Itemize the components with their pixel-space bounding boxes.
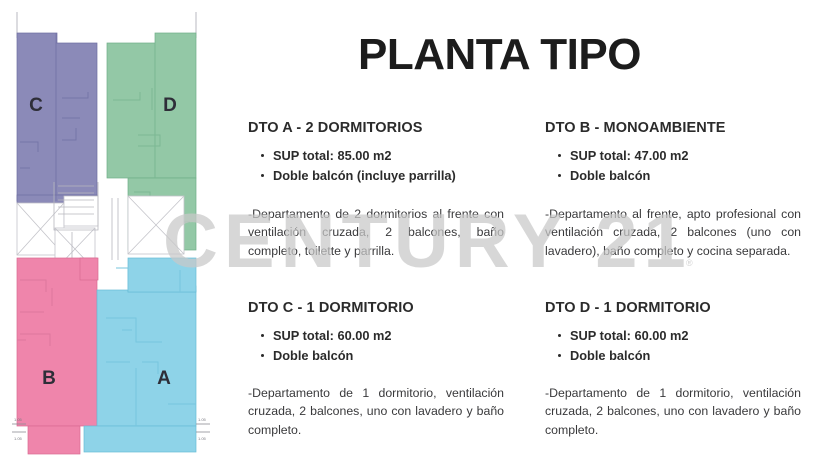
- svg-text:1.05: 1.05: [198, 436, 207, 441]
- floorplan-zone-c: C: [17, 28, 97, 203]
- floorplan-drawing: C D: [0, 0, 232, 465]
- zone-label-d: D: [163, 95, 177, 116]
- unit-heading-c: DTO C - 1 DORMITORIO: [248, 300, 504, 316]
- unit-description-a: -Departamento de 2 dormitorios al frente…: [248, 205, 504, 261]
- unit-bullet-item: SUP total: 60.00 m2: [261, 326, 504, 346]
- unit-block-c: DTO C - 1 DORMITORIO SUP total: 60.00 m2…: [248, 300, 504, 440]
- page-title: PLANTA TIPO: [358, 33, 641, 77]
- unit-bullet-item: Doble balcón (incluye parrilla): [261, 166, 504, 186]
- planta-tipo-page: C D: [0, 0, 828, 465]
- unit-bullet-item: SUP total: 85.00 m2: [261, 146, 504, 166]
- unit-bullet-item: SUP total: 47.00 m2: [558, 146, 801, 166]
- unit-bullet-item: SUP total: 60.00 m2: [558, 326, 801, 346]
- unit-bullets-b: SUP total: 47.00 m2 Doble balcón: [558, 146, 801, 186]
- unit-block-a: DTO A - 2 DORMITORIOS SUP total: 85.00 m…: [248, 120, 504, 261]
- unit-bullet-item: Doble balcón: [261, 346, 504, 366]
- svg-text:1.05: 1.05: [14, 436, 23, 441]
- dimension-mark-right: 1.05 1.05: [196, 417, 210, 441]
- floorplan-zone-a: A: [84, 258, 196, 452]
- unit-block-b: DTO B - MONOAMBIENTE SUP total: 47.00 m2…: [545, 120, 801, 261]
- unit-heading-b: DTO B - MONOAMBIENTE: [545, 120, 801, 136]
- unit-bullets-c: SUP total: 60.00 m2 Doble balcón: [261, 326, 504, 366]
- floorplan-zone-b: B: [17, 258, 98, 454]
- unit-description-b: -Departamento al frente, apto profesiona…: [545, 205, 801, 261]
- unit-description-c: -Departamento de 1 dormitorio, ventilaci…: [248, 384, 504, 440]
- content-panel: PLANTA TIPO DTO A - 2 DORMITORIOS SUP to…: [240, 0, 828, 465]
- unit-heading-d: DTO D - 1 DORMITORIO: [545, 300, 801, 316]
- unit-heading-a: DTO A - 2 DORMITORIOS: [248, 120, 504, 136]
- unit-bullet-item: Doble balcón: [558, 346, 801, 366]
- floorplan-panel: C D: [0, 0, 232, 465]
- unit-bullets-d: SUP total: 60.00 m2 Doble balcón: [558, 326, 801, 366]
- svg-text:1.05: 1.05: [14, 417, 23, 422]
- svg-text:1.05: 1.05: [198, 417, 207, 422]
- zone-label-c: C: [29, 95, 43, 116]
- unit-bullet-item: Doble balcón: [558, 166, 801, 186]
- zone-label-a: A: [157, 368, 171, 389]
- zone-label-b: B: [42, 368, 56, 389]
- unit-description-d: -Departamento de 1 dormitorio, ventilaci…: [545, 384, 801, 440]
- unit-block-d: DTO D - 1 DORMITORIO SUP total: 60.00 m2…: [545, 300, 801, 440]
- unit-bullets-a: SUP total: 85.00 m2 Doble balcón (incluy…: [261, 146, 504, 186]
